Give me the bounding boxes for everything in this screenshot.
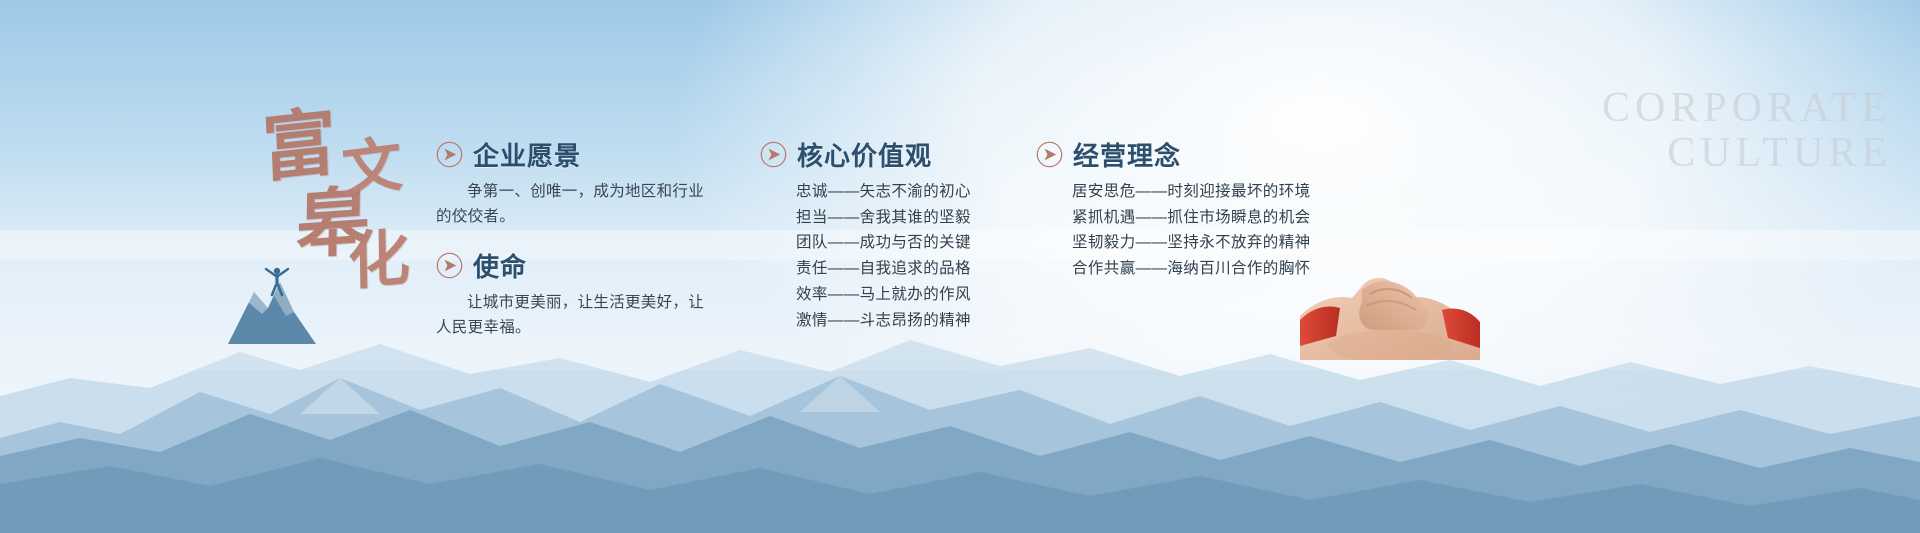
list-item: 紧抓机遇——抓住市场瞬息的机会: [1072, 205, 1336, 231]
heading-vision-title: 企业愿景: [473, 136, 581, 173]
list-item: 团队——成功与否的关键: [796, 230, 1020, 256]
list-item: 忠诚——矢志不渝的初心: [796, 179, 1020, 205]
heading-core-values: 核心价值观: [760, 136, 1020, 173]
heading-mission: 使命: [436, 247, 736, 284]
list-item: 激情——斗志昂扬的精神: [796, 308, 1020, 334]
arrow-circle-icon: [760, 141, 787, 168]
summit-figure-icon: [224, 262, 320, 344]
heading-mission-title: 使命: [473, 247, 527, 284]
mountain-layer-near: [0, 352, 1920, 533]
block-mission: 使命 让城市更美丽，让生活更美好，让人民更幸福。: [436, 247, 736, 340]
corporate-culture-banner: 富 皋 文 化 CORPORATE CULTURE 企业愿景 争第一、创唯一，成…: [0, 0, 1920, 533]
list-item: 居安思危——时刻迎接最坏的环境: [1072, 179, 1336, 205]
calligraphy-char-3: 文: [340, 134, 404, 201]
vision-body-text: 争第一、创唯一，成为地区和行业的佼佼者。: [436, 179, 704, 229]
list-item: 担当——舍我其谁的坚毅: [796, 205, 1020, 231]
list-item: 合作共赢——海纳百川合作的胸怀: [1072, 256, 1336, 282]
mission-body-text: 让城市更美丽，让生活更美好，让人民更幸福。: [436, 290, 704, 340]
arrow-circle-icon: [436, 141, 463, 168]
column-vision-mission: 企业愿景 争第一、创唯一，成为地区和行业的佼佼者。 使命 让城市更美丽，让生活更…: [436, 136, 736, 344]
heading-business-philosophy-title: 经营理念: [1073, 136, 1181, 173]
calligraphy-fugao-culture: 富 皋 文 化: [236, 110, 426, 310]
mountain-layer-far: [0, 300, 1920, 533]
calligraphy-char-2: 皋: [295, 185, 370, 264]
column-core-values: 核心价值观 忠诚——矢志不渝的初心 担当——舍我其谁的坚毅 团队——成功与否的关…: [760, 136, 1020, 333]
calligraphy-char-1: 富: [261, 106, 337, 188]
watermark-line-1: CORPORATE: [1602, 86, 1892, 131]
arrow-circle-icon: [1036, 141, 1063, 168]
mountain-layer-foreground: [0, 430, 1920, 533]
watermark-line-2: CULTURE: [1602, 131, 1892, 176]
heading-vision: 企业愿景: [436, 136, 736, 173]
core-values-list: 忠诚——矢志不渝的初心 担当——舍我其谁的坚毅 团队——成功与否的关键 责任——…: [760, 179, 1020, 333]
calligraphy-char-4: 化: [348, 227, 411, 295]
business-philosophy-list: 居安思危——时刻迎接最坏的环境 紧抓机遇——抓住市场瞬息的机会 坚韧毅力——坚持…: [1036, 179, 1336, 282]
heading-business-philosophy: 经营理念: [1036, 136, 1336, 173]
arrow-circle-icon: [436, 252, 463, 279]
list-item: 效率——马上就办的作风: [796, 282, 1020, 308]
heading-core-values-title: 核心价值观: [797, 136, 932, 173]
list-item: 坚韧毅力——坚持永不放弃的精神: [1072, 230, 1336, 256]
list-item: 责任——自我追求的品格: [796, 256, 1020, 282]
corporate-culture-watermark: CORPORATE CULTURE: [1602, 86, 1892, 175]
mountain-layer-mid: [0, 318, 1920, 533]
block-vision: 企业愿景 争第一、创唯一，成为地区和行业的佼佼者。: [436, 136, 736, 229]
column-business-philosophy: 经营理念 居安思危——时刻迎接最坏的环境 紧抓机遇——抓住市场瞬息的机会 坚韧毅…: [1036, 136, 1336, 282]
